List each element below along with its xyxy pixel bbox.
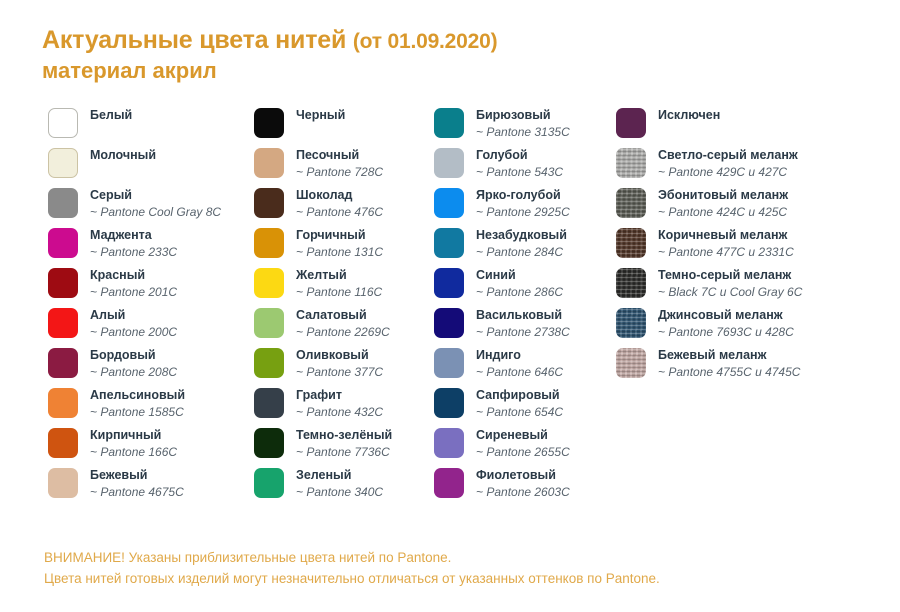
color-chip	[48, 228, 78, 258]
pantone-code: ~ Pantone 728C	[296, 165, 383, 180]
color-chip-container	[614, 308, 648, 338]
color-name: Красный	[90, 268, 177, 283]
color-chip	[254, 228, 284, 258]
color-name: Кирпичный	[90, 428, 177, 443]
color-name: Фиолетовый	[476, 468, 570, 483]
swatch-labels: Коричневый меланж~ Pantone 477C и 2331C	[648, 228, 794, 260]
color-chip	[254, 148, 284, 178]
color-name: Сиреневый	[476, 428, 570, 443]
swatch-row: Бордовый~ Pantone 208C	[46, 348, 226, 388]
color-chip	[616, 148, 646, 178]
swatch-row: Темно-зелёный~ Pantone 7736C	[252, 428, 432, 468]
swatch-row: Кирпичный~ Pantone 166C	[46, 428, 226, 468]
swatch-labels: Шоколад~ Pantone 476C	[286, 188, 383, 220]
color-chip-container	[432, 308, 466, 338]
swatch-labels: Бежевый~ Pantone 4675C	[80, 468, 184, 500]
pantone-code: ~ Pantone 2925C	[476, 205, 570, 220]
color-name: Васильковый	[476, 308, 570, 323]
swatch-row: Молочный	[46, 148, 226, 188]
swatch-row: Серый~ Pantone Cool Gray 8C	[46, 188, 226, 228]
color-name: Бежевый	[90, 468, 184, 483]
color-chip	[616, 348, 646, 378]
color-name: Оливковый	[296, 348, 383, 363]
color-chip	[616, 268, 646, 298]
swatch-row: Белый	[46, 108, 226, 148]
swatch-labels: Сиреневый~ Pantone 2655C	[466, 428, 570, 460]
swatch-row: Сапфировый~ Pantone 654C	[432, 388, 614, 428]
pantone-code: ~ Pantone 2269C	[296, 325, 390, 340]
color-name: Белый	[90, 108, 132, 123]
pantone-code: ~ Pantone 7736C	[296, 445, 392, 460]
color-chip	[254, 388, 284, 418]
swatch-labels: Индиго~ Pantone 646C	[466, 348, 563, 380]
swatch-row: Васильковый~ Pantone 2738C	[432, 308, 614, 348]
color-chip	[434, 468, 464, 498]
swatch-labels: Фиолетовый~ Pantone 2603C	[466, 468, 570, 500]
color-name: Джинсовый меланж	[658, 308, 794, 323]
swatch-labels: Салатовый~ Pantone 2269C	[286, 308, 390, 340]
color-chip	[48, 268, 78, 298]
color-chip-container	[432, 348, 466, 378]
disclaimer-line-1: ВНИМАНИЕ! Указаны приблизительные цвета …	[44, 547, 874, 568]
disclaimer-line-2: Цвета нитей готовых изделий могут незнач…	[44, 568, 874, 589]
swatch-row: Бежевый~ Pantone 4675C	[46, 468, 226, 508]
color-chip	[434, 428, 464, 458]
swatch-column-1: БелыйМолочныйСерый~ Pantone Cool Gray 8C…	[0, 108, 226, 508]
color-name: Коричневый меланж	[658, 228, 794, 243]
color-name: Горчичный	[296, 228, 383, 243]
swatch-row: Желтый~ Pantone 116C	[252, 268, 432, 308]
swatch-labels: Оливковый~ Pantone 377C	[286, 348, 383, 380]
color-name: Бирюзовый	[476, 108, 570, 123]
swatch-row: Темно-серый меланж~ Black 7C и Cool Gray…	[614, 268, 900, 308]
color-chip-container	[252, 388, 286, 418]
color-chip-container	[46, 428, 80, 458]
color-name: Темно-серый меланж	[658, 268, 802, 283]
color-swatch-grid: БелыйМолочныйСерый~ Pantone Cool Gray 8C…	[0, 108, 900, 508]
swatch-row: Светло-серый меланж~ Pantone 429C и 427C	[614, 148, 900, 188]
swatch-row: Незабудковый~ Pantone 284C	[432, 228, 614, 268]
color-chip-container	[252, 308, 286, 338]
color-chip-container	[432, 148, 466, 178]
color-chip	[254, 188, 284, 218]
swatch-labels: Эбонитовый меланж~ Pantone 424C и 425C	[648, 188, 788, 220]
swatch-row: Красный~ Pantone 201C	[46, 268, 226, 308]
color-chip	[48, 388, 78, 418]
swatch-row: Бирюзовый~ Pantone 3135C	[432, 108, 614, 148]
swatch-row: Черный	[252, 108, 432, 148]
color-chip-container	[614, 108, 648, 138]
swatch-labels: Молочный	[80, 148, 156, 163]
pantone-code: ~ Pantone 201C	[90, 285, 177, 300]
pantone-code: ~ Pantone 2603C	[476, 485, 570, 500]
color-chip	[254, 108, 284, 138]
color-chip	[48, 188, 78, 218]
swatch-labels: Красный~ Pantone 201C	[80, 268, 177, 300]
color-name: Песочный	[296, 148, 383, 163]
swatch-row: Сиреневый~ Pantone 2655C	[432, 428, 614, 468]
swatch-labels: Исключен	[648, 108, 720, 123]
pantone-code: ~ Pantone 131C	[296, 245, 383, 260]
pantone-code: ~ Pantone 477C и 2331C	[658, 245, 794, 260]
color-name: Сапфировый	[476, 388, 563, 403]
swatch-labels: Белый	[80, 108, 132, 123]
color-chip	[254, 268, 284, 298]
color-chip-container	[432, 268, 466, 298]
swatch-row: Шоколад~ Pantone 476C	[252, 188, 432, 228]
swatch-labels: Черный	[286, 108, 345, 123]
color-chip-container	[614, 268, 648, 298]
color-chip-container	[432, 188, 466, 218]
color-name: Зеленый	[296, 468, 383, 483]
color-chip	[254, 428, 284, 458]
swatch-labels: Алый~ Pantone 200C	[80, 308, 177, 340]
swatch-row: Маджента~ Pantone 233C	[46, 228, 226, 268]
pantone-code: ~ Pantone 646C	[476, 365, 563, 380]
swatch-labels: Бирюзовый~ Pantone 3135C	[466, 108, 570, 140]
swatch-labels: Бежевый меланж~ Pantone 4755C и 4745C	[648, 348, 800, 380]
pantone-code: ~ Pantone 429C и 427C	[658, 165, 798, 180]
pantone-code: ~ Pantone Cool Gray 8C	[90, 205, 221, 220]
swatch-labels: Темно-зелёный~ Pantone 7736C	[286, 428, 392, 460]
swatch-row: Ярко-голубой~ Pantone 2925C	[432, 188, 614, 228]
pantone-code: ~ Pantone 654C	[476, 405, 563, 420]
color-chip-container	[46, 348, 80, 378]
pantone-code: ~ Pantone 284C	[476, 245, 567, 260]
page-title: Актуальные цвета нитей (от 01.09.2020)	[42, 26, 862, 56]
color-name: Голубой	[476, 148, 563, 163]
color-chip	[434, 348, 464, 378]
swatch-column-2: ЧерныйПесочный~ Pantone 728CШоколад~ Pan…	[226, 108, 432, 508]
pantone-code: ~ Pantone 4755C и 4745C	[658, 365, 800, 380]
swatch-row: Горчичный~ Pantone 131C	[252, 228, 432, 268]
swatch-labels: Васильковый~ Pantone 2738C	[466, 308, 570, 340]
swatch-labels: Бордовый~ Pantone 208C	[80, 348, 177, 380]
color-chip	[254, 468, 284, 498]
swatch-labels: Кирпичный~ Pantone 166C	[80, 428, 177, 460]
color-chip-container	[432, 388, 466, 418]
color-name: Шоколад	[296, 188, 383, 203]
color-chip	[616, 228, 646, 258]
swatch-labels: Синий~ Pantone 286C	[466, 268, 563, 300]
page-title-main: Актуальные цвета нитей	[42, 26, 346, 54]
color-chip	[434, 188, 464, 218]
color-name: Темно-зелёный	[296, 428, 392, 443]
color-chip-container	[252, 348, 286, 378]
color-chip-container	[46, 108, 80, 138]
color-chip	[434, 228, 464, 258]
swatch-labels: Ярко-голубой~ Pantone 2925C	[466, 188, 570, 220]
color-chip-container	[614, 228, 648, 258]
swatch-labels: Незабудковый~ Pantone 284C	[466, 228, 567, 260]
swatch-row: Голубой~ Pantone 543C	[432, 148, 614, 188]
pantone-code: ~ Pantone 200C	[90, 325, 177, 340]
color-chip	[48, 428, 78, 458]
pantone-code: ~ Pantone 476C	[296, 205, 383, 220]
swatch-row: Исключен	[614, 108, 900, 148]
pantone-code: ~ Pantone 7693C и 428C	[658, 325, 794, 340]
page-header: Актуальные цвета нитей (от 01.09.2020) м…	[42, 26, 862, 84]
pantone-code: ~ Pantone 116C	[296, 285, 382, 300]
color-name: Бежевый меланж	[658, 348, 800, 363]
color-name: Ярко-голубой	[476, 188, 570, 203]
swatch-row: Оливковый~ Pantone 377C	[252, 348, 432, 388]
swatch-labels: Светло-серый меланж~ Pantone 429C и 427C	[648, 148, 798, 180]
color-chip	[48, 468, 78, 498]
swatch-row: Фиолетовый~ Pantone 2603C	[432, 468, 614, 508]
color-chip-container	[614, 348, 648, 378]
swatch-column-4: ИсключенСветло-серый меланж~ Pantone 429…	[614, 108, 900, 508]
color-chip-container	[432, 228, 466, 258]
disclaimer: ВНИМАНИЕ! Указаны приблизительные цвета …	[44, 547, 874, 589]
color-name: Бордовый	[90, 348, 177, 363]
swatch-labels: Маджента~ Pantone 233C	[80, 228, 177, 260]
pantone-code: ~ Pantone 4675C	[90, 485, 184, 500]
swatch-row: Зеленый~ Pantone 340C	[252, 468, 432, 508]
color-chip	[434, 148, 464, 178]
color-chip	[616, 188, 646, 218]
pantone-code: ~ Pantone 3135C	[476, 125, 570, 140]
color-chip-container	[252, 268, 286, 298]
color-chip	[434, 108, 464, 138]
swatch-labels: Темно-серый меланж~ Black 7C и Cool Gray…	[648, 268, 802, 300]
swatch-row: Алый~ Pantone 200C	[46, 308, 226, 348]
swatch-column-3: Бирюзовый~ Pantone 3135CГолубой~ Pantone…	[432, 108, 614, 508]
pantone-code: ~ Pantone 340C	[296, 485, 383, 500]
pantone-code: ~ Pantone 424C и 425C	[658, 205, 788, 220]
color-name: Индиго	[476, 348, 563, 363]
color-chip-container	[46, 308, 80, 338]
color-chip	[48, 348, 78, 378]
color-chip-container	[46, 388, 80, 418]
color-name: Эбонитовый меланж	[658, 188, 788, 203]
pantone-code: ~ Pantone 286C	[476, 285, 563, 300]
swatch-row: Апельсиновый~ Pantone 1585C	[46, 388, 226, 428]
pantone-code: ~ Pantone 233C	[90, 245, 177, 260]
color-chip	[48, 148, 78, 178]
color-chip-container	[432, 428, 466, 458]
pantone-code: ~ Pantone 208C	[90, 365, 177, 380]
pantone-code: ~ Pantone 543C	[476, 165, 563, 180]
pantone-code: ~ Pantone 166C	[90, 445, 177, 460]
pantone-code: ~ Pantone 2738C	[476, 325, 570, 340]
swatch-row: Синий~ Pantone 286C	[432, 268, 614, 308]
color-chip	[616, 108, 646, 138]
color-chip-container	[252, 468, 286, 498]
color-chip	[254, 348, 284, 378]
swatch-labels: Апельсиновый~ Pantone 1585C	[80, 388, 185, 420]
pantone-code: ~ Pantone 1585C	[90, 405, 185, 420]
swatch-labels: Серый~ Pantone Cool Gray 8C	[80, 188, 221, 220]
swatch-row: Бежевый меланж~ Pantone 4755C и 4745C	[614, 348, 900, 388]
color-chip-container	[252, 108, 286, 138]
color-chip	[434, 268, 464, 298]
color-chip	[434, 388, 464, 418]
color-name: Черный	[296, 108, 345, 123]
color-name: Исключен	[658, 108, 720, 123]
color-chip-container	[614, 148, 648, 178]
color-chip-container	[46, 468, 80, 498]
pantone-code: ~ Pantone 377C	[296, 365, 383, 380]
swatch-labels: Графит~ Pantone 432C	[286, 388, 383, 420]
color-chip-container	[252, 228, 286, 258]
swatch-row: Коричневый меланж~ Pantone 477C и 2331C	[614, 228, 900, 268]
color-name: Незабудковый	[476, 228, 567, 243]
color-chip	[254, 308, 284, 338]
swatch-labels: Зеленый~ Pantone 340C	[286, 468, 383, 500]
swatch-labels: Джинсовый меланж~ Pantone 7693C и 428C	[648, 308, 794, 340]
color-name: Молочный	[90, 148, 156, 163]
color-name: Синий	[476, 268, 563, 283]
swatch-row: Эбонитовый меланж~ Pantone 424C и 425C	[614, 188, 900, 228]
color-chip-container	[432, 108, 466, 138]
swatch-row: Джинсовый меланж~ Pantone 7693C и 428C	[614, 308, 900, 348]
page-subtitle: материал акрил	[42, 57, 862, 85]
pantone-code: ~ Black 7C и Cool Gray 6C	[658, 285, 802, 300]
swatch-row: Песочный~ Pantone 728C	[252, 148, 432, 188]
color-name: Салатовый	[296, 308, 390, 323]
swatch-row: Графит~ Pantone 432C	[252, 388, 432, 428]
color-name: Желтый	[296, 268, 382, 283]
pantone-code: ~ Pantone 432C	[296, 405, 383, 420]
swatch-row: Индиго~ Pantone 646C	[432, 348, 614, 388]
swatch-labels: Песочный~ Pantone 728C	[286, 148, 383, 180]
swatch-labels: Желтый~ Pantone 116C	[286, 268, 382, 300]
color-chip	[434, 308, 464, 338]
page-title-date: (от 01.09.2020)	[353, 30, 498, 53]
color-name: Серый	[90, 188, 221, 203]
swatch-labels: Сапфировый~ Pantone 654C	[466, 388, 563, 420]
color-name: Алый	[90, 308, 177, 323]
color-chip-container	[252, 188, 286, 218]
color-chip	[48, 108, 78, 138]
color-chip	[616, 308, 646, 338]
color-chip-container	[614, 188, 648, 218]
color-chip-container	[252, 148, 286, 178]
color-chip-container	[46, 268, 80, 298]
swatch-row: Салатовый~ Pantone 2269C	[252, 308, 432, 348]
color-chip	[48, 308, 78, 338]
color-name: Маджента	[90, 228, 177, 243]
pantone-code: ~ Pantone 2655C	[476, 445, 570, 460]
color-chip-container	[46, 148, 80, 178]
color-chip-container	[46, 188, 80, 218]
color-chip-container	[46, 228, 80, 258]
color-chip-container	[252, 428, 286, 458]
color-chip-container	[432, 468, 466, 498]
color-name: Графит	[296, 388, 383, 403]
swatch-labels: Голубой~ Pantone 543C	[466, 148, 563, 180]
swatch-labels: Горчичный~ Pantone 131C	[286, 228, 383, 260]
color-name: Апельсиновый	[90, 388, 185, 403]
color-name: Светло-серый меланж	[658, 148, 798, 163]
